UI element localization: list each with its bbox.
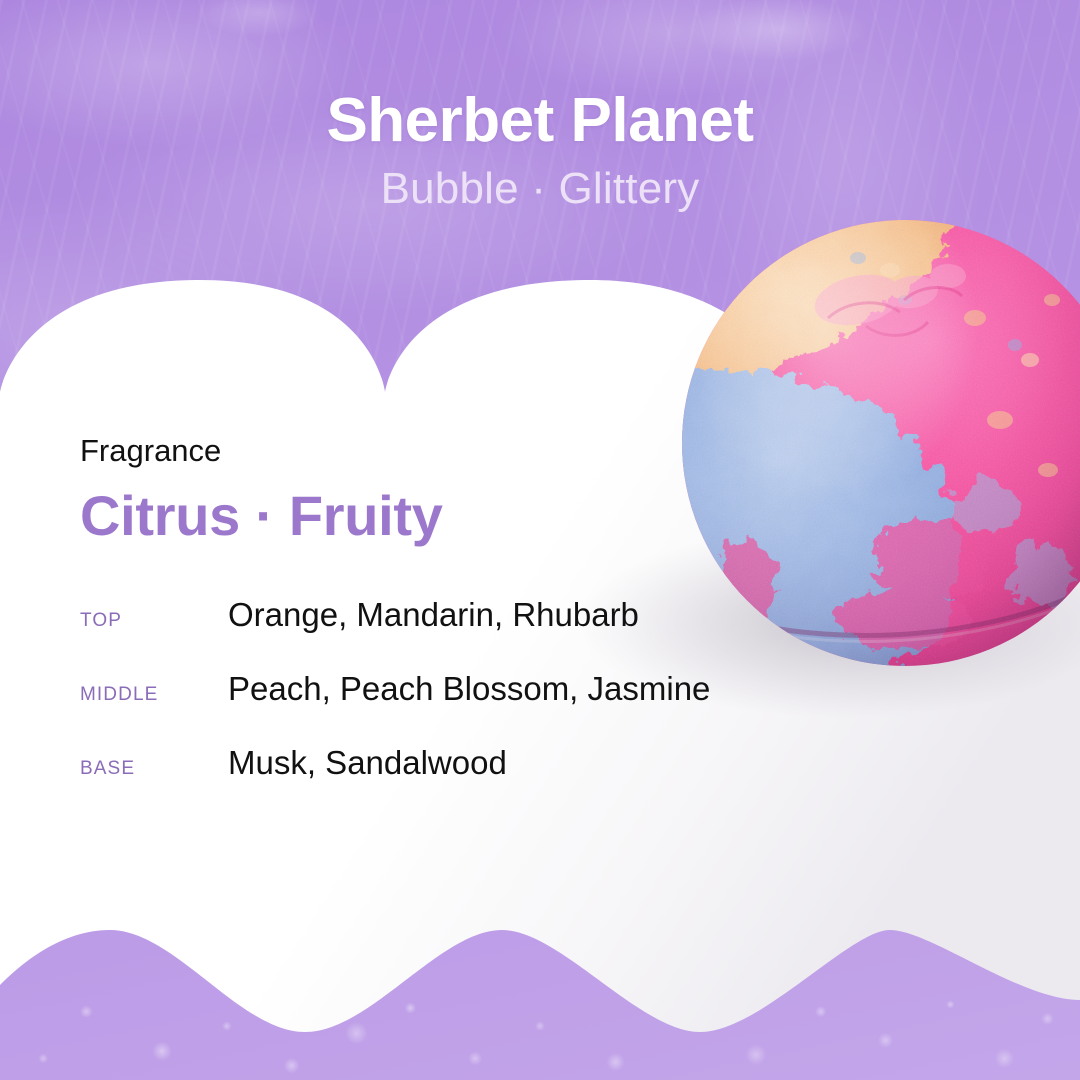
note-value-middle: Peach, Peach Blossom, Jasmine — [228, 670, 710, 708]
note-value-top: Orange, Mandarin, Rhubarb — [228, 596, 639, 634]
note-key-base: BASE — [80, 758, 228, 780]
note-value-base: Musk, Sandalwood — [228, 744, 507, 782]
product-card: Sherbet Planet Bubble · Glittery Fragran… — [0, 0, 1080, 1080]
list-item: TOP Orange, Mandarin, Rhubarb — [80, 596, 800, 634]
fragrance-info-block: Fragrance Citrus · Fruity TOP Orange, Ma… — [80, 432, 800, 782]
fragrance-value: Citrus · Fruity — [80, 485, 800, 548]
list-item: BASE Musk, Sandalwood — [80, 744, 800, 782]
note-key-middle: MIDDLE — [80, 684, 228, 706]
list-item: MIDDLE Peach, Peach Blossom, Jasmine — [80, 670, 800, 708]
note-key-top: TOP — [80, 610, 228, 632]
fragrance-label: Fragrance — [80, 432, 800, 469]
fragrance-notes-list: TOP Orange, Mandarin, Rhubarb MIDDLE Pea… — [80, 596, 800, 782]
